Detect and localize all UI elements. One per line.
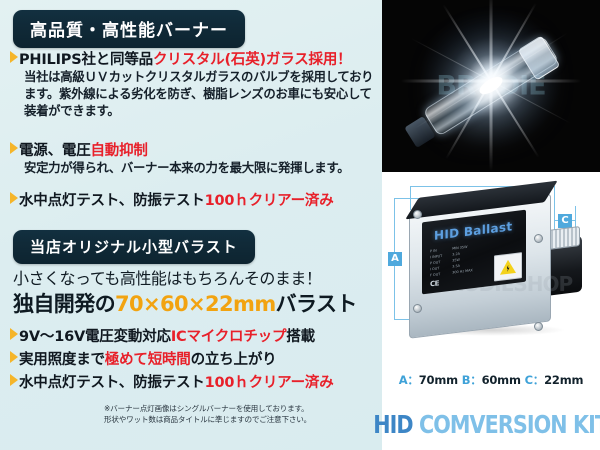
spec-name: F OUT: [430, 272, 442, 279]
bottom-banner: HID COMVERSION KIT: [382, 398, 600, 450]
bullet-water-test-2-title: 水中点灯テスト、防振テスト100ｈクリアー済み: [19, 371, 334, 392]
section-badge-ballast: 当店オリジナル小型バラスト: [13, 230, 255, 264]
screw-icon: [413, 304, 422, 313]
ce-mark-icon: CE: [430, 279, 439, 288]
bullet-philips-glass: PHILIPS社と同等品クリスタル(石英)ガラス採用！: [10, 48, 351, 69]
tagline-dimension-value: 70×60×22mm: [115, 292, 276, 316]
right-media-column: BRODIE A B C: [382, 0, 600, 450]
bullet-highlight-text: 100ｈクリアー済み: [205, 375, 334, 391]
bullet-water-test-2: 水中点灯テスト、防振テスト100ｈクリアー済み: [10, 371, 334, 392]
bullet-fast-startup-title: 実用照度まで極めて短時間の立ち上がり: [19, 348, 276, 369]
bullet-philips-glass-body: 当社は高級ＵＶカットクリスタルガラスのバルブを採用しております。紫外線による劣化…: [24, 68, 376, 119]
dim-tick-b-left: [410, 186, 411, 210]
warning-sticker: [494, 252, 522, 281]
bullet-ic-microchip: 9V～16V電圧変動対応ICマイクロチップ搭載: [10, 325, 315, 346]
spec-column-values: MIN 35W 3.2A 35W 3.5A 300 Hz MAX: [452, 244, 473, 276]
ballast-dimension-diagram: A B C BRODIESHOP HID Ballast P IN I INPU…: [382, 176, 600, 376]
bullet-post-text: の立ち上がり: [191, 352, 277, 368]
bullet-voltage-control-body: 安定力が得られ、バーナー本来の力を最大限に発揮します。: [24, 159, 376, 176]
tagline-post-text: バラスト: [276, 292, 357, 316]
section-badge-burner: 高品質・高性能バーナー: [13, 10, 245, 48]
connector-nut: [548, 226, 580, 250]
triangle-bullet-icon: [10, 51, 18, 63]
bullet-voltage-control: 電源、電圧自動抑制: [10, 139, 148, 160]
bullet-highlight-text: 100ｈクリアー済み: [205, 193, 334, 209]
spec-column-names: P IN I INPUT P OUT I OUT F OUT: [430, 248, 442, 279]
ballast-tagline-dimensions: 独自開発の70×60×22mmバラスト: [13, 288, 357, 318]
caption-a-value: 70mm: [419, 373, 458, 387]
triangle-bullet-icon: [10, 192, 18, 204]
banner-headline: HID COMVERSION KIT: [374, 410, 600, 439]
bullet-post-text: 搭載: [286, 329, 315, 345]
bullet-lead-text: 電源、電圧: [19, 143, 91, 159]
advertisement-root: 高品質・高性能バーナー PHILIPS社と同等品クリスタル(石英)ガラス採用！ …: [0, 0, 600, 450]
screw-icon: [534, 234, 543, 243]
tagline-pre-text: 独自開発の: [13, 292, 115, 316]
caption-a-key: A：: [399, 373, 419, 387]
bullet-water-test-1-title: 水中点灯テスト、防振テスト100ｈクリアー済み: [19, 189, 334, 210]
caption-b-value: 60mm: [482, 373, 521, 387]
disclaimer-line-1: ※バーナー点灯画像はシングルバーナーを使用しております。: [104, 404, 372, 415]
triangle-bullet-icon: [10, 374, 18, 386]
ballast-label-plate: HID Ballast P IN I INPUT P OUT I OUT F O…: [422, 210, 526, 295]
bullet-highlight-text: 極めて短時間: [105, 352, 191, 368]
caption-b-key: B：: [462, 373, 482, 387]
dim-label-a: A: [388, 252, 402, 266]
bullet-lead-text: 水中点灯テスト、防振テスト: [19, 193, 205, 209]
bullet-lead-text: 水中点灯テスト、防振テスト: [19, 375, 205, 391]
high-voltage-warning-icon: [500, 259, 516, 275]
screw-icon: [413, 210, 422, 219]
banner-rest-text: COMVERSION KIT: [419, 410, 600, 439]
dim-label-c: C: [558, 214, 572, 228]
bullet-highlight-text: ICマイクロチップ: [171, 329, 286, 345]
bullet-philips-glass-title: PHILIPS社と同等品クリスタル(石英)ガラス採用！: [19, 48, 351, 69]
disclaimer-note: ※バーナー点灯画像はシングルバーナーを使用しております。 形状やワット数は商品タ…: [104, 404, 372, 425]
triangle-bullet-icon: [10, 142, 18, 154]
bullet-ic-microchip-title: 9V～16V電圧変動対応ICマイクロチップ搭載: [19, 325, 315, 346]
bullet-water-test-1: 水中点灯テスト、防振テスト100ｈクリアー済み: [10, 189, 334, 210]
dimension-caption: A：70mm B：60mm C：22mm: [382, 372, 600, 388]
caption-c-key: C：: [525, 373, 545, 387]
triangle-bullet-icon: [10, 351, 18, 363]
dim-tick-b-right: [554, 186, 555, 230]
bullet-fast-startup: 実用照度まで極めて短時間の立ち上がり: [10, 348, 276, 369]
ballast-tagline-top: 小さくなっても高性能はもちろんそのまま！: [13, 265, 321, 289]
caption-c-value: 22mm: [544, 373, 583, 387]
bullet-highlight-text: クリスタル(石英)ガラス採用！: [153, 52, 351, 68]
bullet-lead-text: 実用照度まで: [19, 352, 105, 368]
spec-value: 300 Hz MAX: [452, 268, 473, 276]
bullet-voltage-control-title: 電源、電圧自動抑制: [19, 139, 148, 160]
ballast-label-title: HID Ballast: [434, 219, 512, 243]
screw-icon: [534, 322, 543, 331]
bullet-lead-text: PHILIPS社と同等品: [19, 52, 153, 68]
triangle-bullet-icon: [10, 328, 18, 340]
hid-bulb-photo: BRODIE: [382, 0, 600, 172]
disclaimer-line-2: 形状やワット数は商品タイトルに準じますのでご注意下さい。: [104, 415, 372, 426]
left-info-panel: 高品質・高性能バーナー PHILIPS社と同等品クリスタル(石英)ガラス採用！ …: [0, 0, 382, 450]
banner-brand-text: HID: [374, 410, 413, 439]
bullet-lead-text: 9V～16V電圧変動対応: [19, 329, 171, 345]
bullet-highlight-text: 自動抑制: [91, 143, 148, 159]
